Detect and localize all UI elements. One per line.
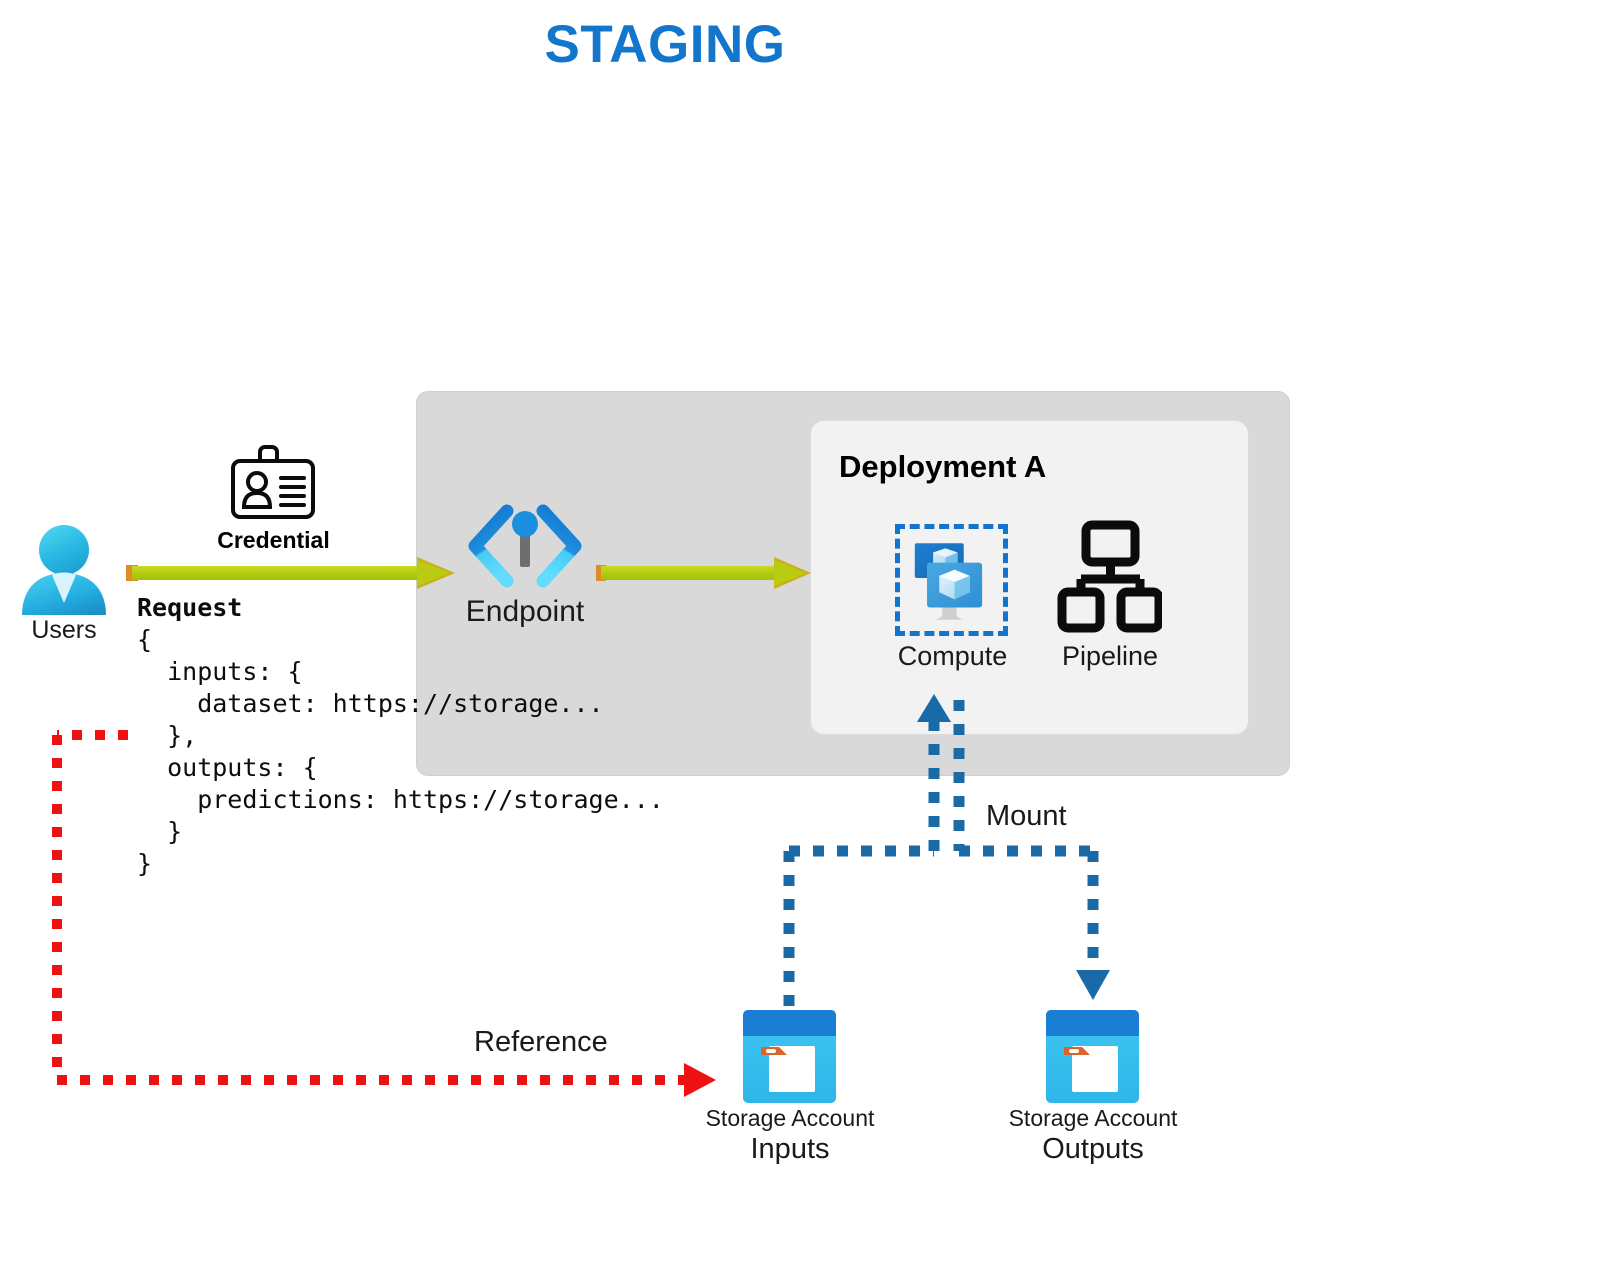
storage-account-inputs-caption: Storage Account Inputs bbox=[660, 1104, 920, 1166]
pipeline-node-label: Pipeline bbox=[1020, 641, 1200, 672]
connector-users-to-endpoint bbox=[126, 552, 456, 594]
mount-arrowhead-down bbox=[1076, 970, 1110, 1000]
page-title: STAGING bbox=[0, 14, 1330, 75]
storage-account-outputs-caption: Storage Account Outputs bbox=[963, 1104, 1223, 1166]
deployment-title: Deployment A bbox=[839, 449, 1046, 485]
compute-node-selection[interactable] bbox=[895, 524, 1008, 636]
credential-label: Credential bbox=[186, 527, 361, 554]
deployment-a-box: Deployment A bbox=[810, 420, 1249, 735]
storage-account-inputs-icon[interactable] bbox=[741, 1008, 838, 1105]
storage-inputs-title: Storage Account bbox=[660, 1104, 920, 1132]
id-badge-icon bbox=[228, 445, 318, 523]
pipeline-node[interactable] bbox=[1057, 519, 1162, 635]
user-avatar-icon bbox=[14, 519, 114, 619]
request-code-block: Request { inputs: { dataset: https://sto… bbox=[137, 592, 664, 880]
diagram-canvas: STAGING Deployment A bbox=[0, 0, 1607, 1287]
storage-account-outputs-icon[interactable] bbox=[1044, 1008, 1141, 1105]
storage-inputs-subtitle: Inputs bbox=[660, 1132, 920, 1166]
connector-endpoint-to-deployment bbox=[596, 552, 812, 594]
pipeline-hierarchy-icon bbox=[1057, 519, 1162, 635]
mount-connector-label: Mount bbox=[986, 800, 1067, 833]
compute-monitor-icon bbox=[900, 529, 1003, 631]
endpoint-brackets-icon[interactable] bbox=[462, 503, 588, 589]
users-label: Users bbox=[4, 616, 124, 645]
reference-connector-label: Reference bbox=[474, 1026, 608, 1059]
storage-outputs-subtitle: Outputs bbox=[963, 1132, 1223, 1166]
storage-outputs-title: Storage Account bbox=[963, 1104, 1223, 1132]
reference-arrowhead bbox=[684, 1063, 716, 1097]
request-title: Request bbox=[137, 593, 242, 622]
request-code: { inputs: { dataset: https://storage... … bbox=[137, 625, 664, 878]
compute-node-label: Compute bbox=[860, 641, 1045, 672]
